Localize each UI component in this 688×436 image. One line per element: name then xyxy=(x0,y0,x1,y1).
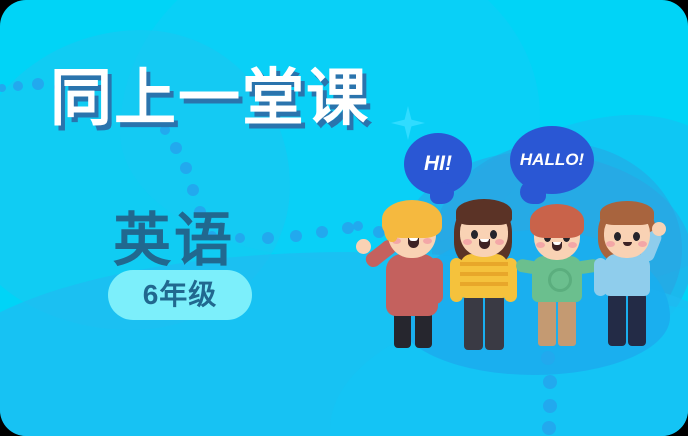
kid1-hair-side xyxy=(384,218,398,242)
kid1-leg-right xyxy=(415,312,432,348)
kid3-teeth xyxy=(553,242,561,245)
kid4-hand xyxy=(652,222,666,236)
kid2-leg-right xyxy=(485,296,504,350)
kid4-cheek-left xyxy=(606,241,615,247)
course-banner-card: 同上一堂课 英语 6年级 HI! HALLO! xyxy=(0,0,688,436)
decorative-dot xyxy=(543,375,557,389)
students-illustration xyxy=(368,196,668,356)
kid3-mouth xyxy=(552,242,562,251)
kid2-eye-left xyxy=(471,230,478,239)
kid1-hand xyxy=(356,239,371,254)
kid2-shirt xyxy=(460,254,508,298)
kid4-leg-right xyxy=(628,294,646,346)
kid4-shirt xyxy=(604,254,650,296)
kid3-leg-right xyxy=(558,300,576,346)
kid1-leg-left xyxy=(394,312,411,348)
subject-title: 英语 xyxy=(113,193,235,277)
kid3-cheek-right xyxy=(568,242,577,248)
kid-brown-girl-2 xyxy=(582,200,670,352)
kid1-mouth xyxy=(408,238,419,248)
grade-badge: 6年级 xyxy=(108,270,252,320)
speech-bubble-hallo: HALLO! xyxy=(510,126,594,194)
sparkle-icon xyxy=(391,106,425,140)
grade-badge-label: 6年级 xyxy=(143,281,218,309)
kid2-cheek-left xyxy=(463,239,472,245)
kid4-mouth xyxy=(623,242,632,246)
kid2-teeth xyxy=(480,239,489,242)
kid4-bangs xyxy=(600,201,654,225)
kid2-mouth xyxy=(479,239,490,249)
kid3-leg-left xyxy=(538,300,556,346)
kid1-teeth xyxy=(409,238,418,241)
decorative-dot xyxy=(543,399,557,413)
kid2-shirt-stripe xyxy=(460,282,508,286)
kid1-cheek-right xyxy=(423,238,432,244)
kid3-tshirt xyxy=(532,256,582,302)
speech-bubble-hi: HI! xyxy=(404,133,472,195)
kid2-shirt-stripe xyxy=(460,272,508,276)
kid2-shirt-stripe xyxy=(460,262,508,266)
kid2-cheek-right xyxy=(495,239,504,245)
kid3-hair xyxy=(530,204,584,238)
kid3-cheek-left xyxy=(536,242,545,248)
kid2-leg-left xyxy=(464,296,483,350)
kid4-cheek-right xyxy=(638,241,647,247)
kid2-bangs xyxy=(456,199,512,225)
kid4-eye-right xyxy=(633,232,640,241)
page-title: 同上一堂课 xyxy=(50,47,370,137)
kid4-eye-left xyxy=(614,232,621,241)
headline-block: 同上一堂课 英语 6年级 xyxy=(0,0,360,436)
decorative-dot xyxy=(542,421,556,435)
kid2-eye-right xyxy=(490,230,497,239)
kid4-leg-left xyxy=(608,294,626,346)
